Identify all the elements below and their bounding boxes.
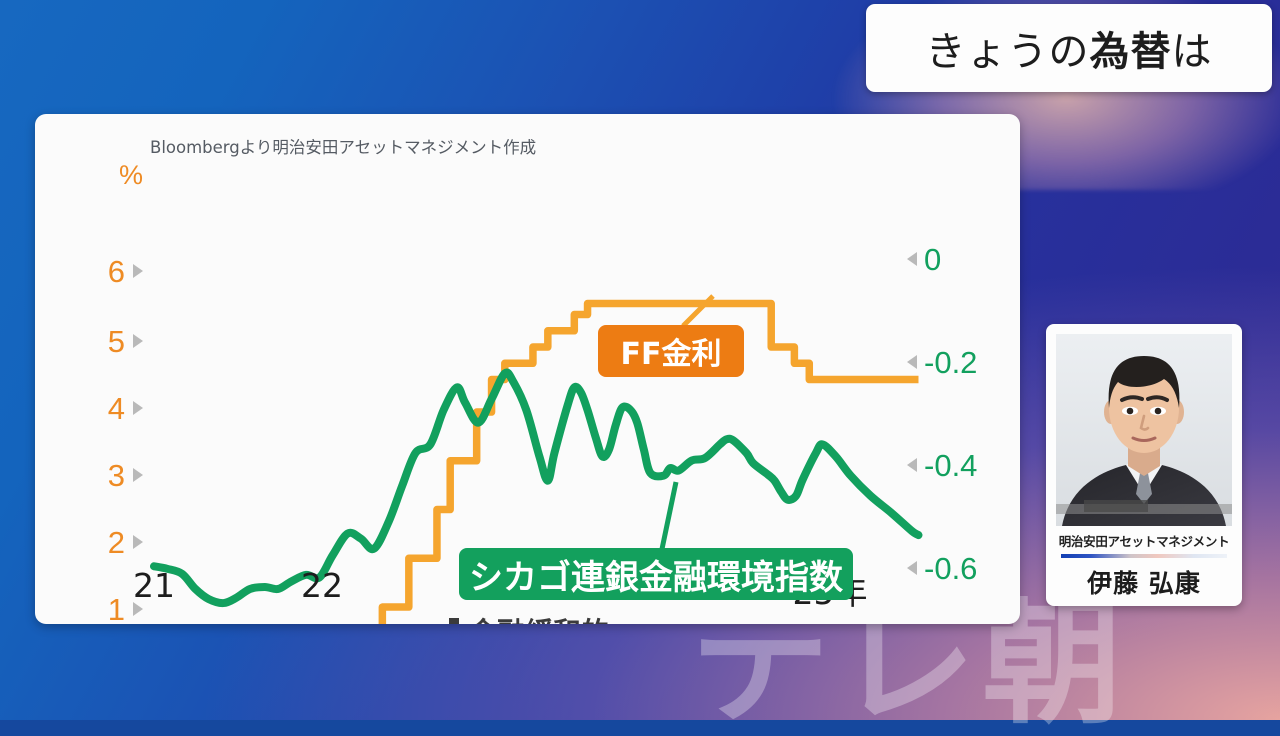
y-axis-left-tick-5: 5 (81, 324, 143, 358)
commentator-portrait (1056, 334, 1232, 526)
y-axis-left-tick-4: 4 (81, 391, 143, 425)
y-axis-left-label-5: 5 (108, 326, 125, 357)
profile-name: 伊藤 弘康 (1087, 564, 1201, 600)
title-emphasis: 為替 (1090, 29, 1172, 75)
y-axis-right-label-2: -0.4 (924, 450, 977, 481)
portrait-image (1056, 334, 1232, 526)
tick-triangle-icon (133, 264, 143, 278)
y-axis-left-unit: % (81, 162, 143, 189)
easing-direction-note: 金融緩和的 (443, 611, 609, 624)
y-axis-right-tick-1: -0.2 (907, 345, 1020, 379)
y-axis-right-label-3: -0.6 (924, 553, 977, 584)
tick-triangle-icon (907, 355, 917, 369)
y-axis-right-tick-2: -0.4 (907, 448, 1020, 482)
tick-triangle-icon (907, 458, 917, 472)
callout-cfci: シカゴ連銀金融環境指数 (459, 548, 853, 600)
y-axis-left-tick-3: 3 (81, 458, 143, 492)
y-axis-right-label-1: -0.2 (924, 347, 977, 378)
down-arrow-icon (443, 618, 465, 624)
callout-cfci-label: シカゴ連銀金融環境指数 (469, 550, 843, 599)
tick-triangle-icon (907, 561, 917, 575)
y-axis-left-tick-6: 6 (81, 254, 143, 288)
x-axis-label-21: 21 (133, 566, 175, 605)
y-axis-left-label-4: 4 (108, 393, 125, 424)
y-axis-right-tick-0: 0 (907, 242, 1020, 276)
y-axis-left-label-3: 3 (108, 460, 125, 491)
y-axis-left-label-2: 2 (108, 527, 125, 558)
title-suffix: は (1172, 29, 1213, 75)
callout-ff-rate-label: FF金利 (621, 329, 722, 373)
y-axis-left-tick-2: 2 (81, 525, 143, 559)
commentator-profile-card: 明治安田アセットマネジメント 伊藤 弘康 (1046, 324, 1242, 606)
y-axis-left-label-1: 1 (108, 594, 125, 625)
title-prefix: きょうの (926, 29, 1090, 75)
title-banner-text: きょうの為替は (926, 19, 1213, 77)
tick-triangle-icon (133, 334, 143, 348)
profile-organization: 明治安田アセットマネジメント (1059, 531, 1230, 550)
callout-ff-rate: FF金利 (598, 325, 744, 377)
tick-triangle-icon (133, 535, 143, 549)
tick-triangle-icon (133, 401, 143, 415)
chart-card: Bloombergより明治安田アセットマネジメント作成 6 % 5 4 3 2 … (35, 114, 1020, 624)
y-axis-right-tick-3: -0.6 (907, 551, 1020, 585)
profile-divider (1061, 554, 1227, 558)
tick-triangle-icon (907, 252, 917, 266)
tick-triangle-icon (133, 468, 143, 482)
x-axis-label-22: 22 (301, 566, 343, 605)
y-axis-left-label-6: 6 (108, 256, 125, 287)
y-axis-right-label-0: 0 (924, 244, 941, 275)
title-banner: きょうの為替は (866, 4, 1272, 92)
easing-note-label: 金融緩和的 (469, 611, 609, 624)
